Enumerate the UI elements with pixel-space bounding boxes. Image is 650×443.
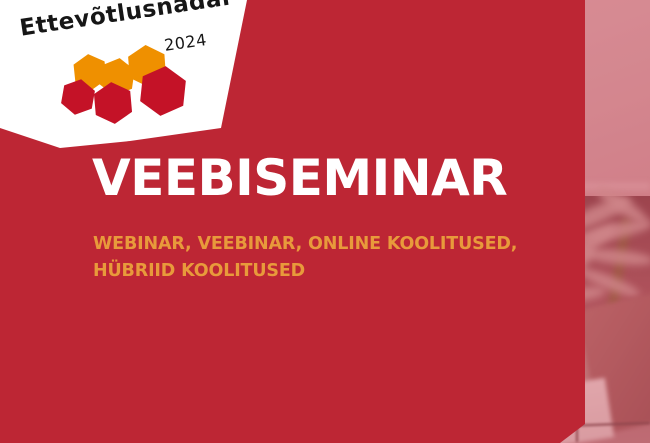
hex-red-right — [140, 66, 186, 116]
subtitle: WEBINAR, VEEBINAR, ONLINE KOOLITUSED, HÜ… — [93, 231, 573, 285]
subtitle-line-2: HÜBRIID KOOLITUSED — [93, 258, 573, 285]
hex-red-mid — [94, 82, 132, 124]
subtitle-line-1: WEBINAR, VEEBINAR, ONLINE KOOLITUSED, — [93, 231, 573, 258]
hex-red-left — [61, 79, 95, 114]
hex-orange-right — [128, 45, 166, 87]
logo-year: 2024 — [163, 30, 208, 55]
page-title: VEEBISEMINAR — [92, 152, 507, 204]
hex-orange-mid — [99, 58, 134, 96]
hex-orange-left — [74, 54, 107, 90]
webinar-banner: Ettevõtlusnädal 2024 VEEBISEMINAR WEBINA… — [0, 0, 650, 443]
